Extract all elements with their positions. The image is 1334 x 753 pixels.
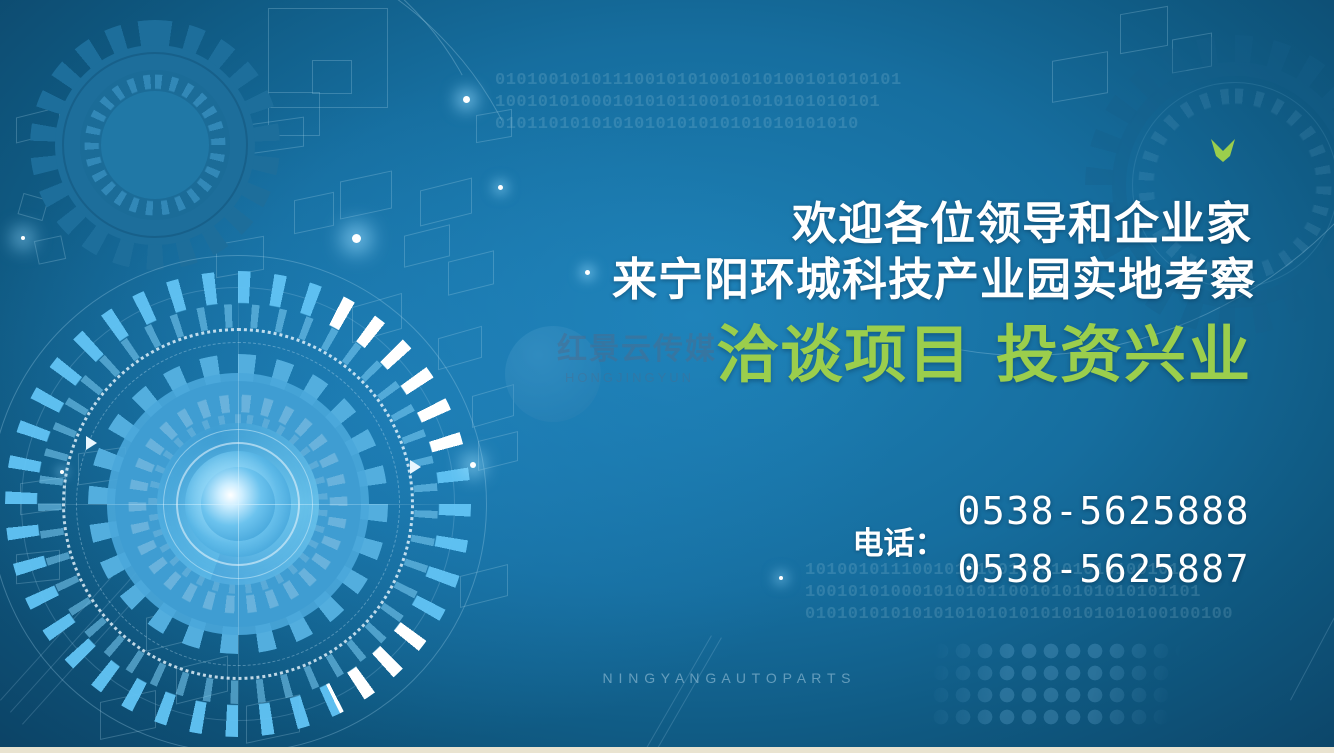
decor-rect [16, 107, 60, 144]
phone-number[interactable]: 0538-5625888 [957, 482, 1250, 540]
binary-line: 0101010101010101010101010101010100100100 [805, 604, 1233, 626]
decor-rect [404, 224, 450, 267]
phone-block: 电话： 0538-5625888 0538-5625887 [852, 482, 1250, 598]
decor-rect [460, 564, 508, 608]
decor-rect [216, 236, 264, 278]
binary-code-top: 01010010101110010101001010100101010101 1… [495, 70, 902, 136]
decor-rect [246, 694, 300, 743]
decor-rect [20, 477, 66, 515]
decor-streak [646, 635, 712, 748]
glow-dot [352, 234, 361, 243]
binary-line: 100101010001010101100101010101010101 [495, 92, 902, 114]
decor-rect [448, 250, 494, 295]
glow-dot [779, 576, 783, 580]
glow-dot [470, 462, 476, 468]
headline-line-2: 来宁阳环城科技产业园实地考察 [612, 252, 1252, 308]
glow-dot [60, 470, 64, 474]
binary-line: 01010010101110010101001010100101010101 [495, 70, 902, 92]
glow-dot [585, 270, 590, 275]
decor-rect [34, 235, 66, 264]
decor-rect [268, 8, 388, 108]
decor-rect [146, 606, 192, 651]
glow-dot [463, 96, 470, 103]
decor-rect [1172, 32, 1212, 73]
headline-block: 欢迎各位领导和企业家 来宁阳环城科技产业园实地考察 洽谈项目 投资兴业 [612, 196, 1252, 390]
decor-streak [22, 583, 150, 725]
decor-rect [438, 326, 482, 371]
decor-streak [656, 637, 722, 750]
phone-number[interactable]: 0538-5625887 [957, 540, 1250, 598]
marker-triangle-icon [410, 460, 421, 474]
chevron-down-icon [1209, 136, 1237, 162]
glow-dot [498, 185, 503, 190]
decor-rect [16, 550, 60, 585]
slogan-text: 洽谈项目 投资兴业 [612, 320, 1252, 390]
decor-rect [294, 192, 334, 235]
phone-label: 电话： [852, 518, 945, 563]
slide-canvas: 01010010101110010101001010100101010101 1… [0, 0, 1334, 753]
decor-rect [78, 447, 126, 486]
decor-rect [352, 293, 402, 343]
gear-decoration-top-left [30, 20, 280, 270]
marker-triangle-icon [86, 436, 97, 450]
decor-rect [476, 109, 512, 143]
brand-footer-text: N I N G Y A N G A U T O P A R T S [0, 670, 1334, 686]
phone-number-list: 0538-5625888 0538-5625887 [957, 482, 1250, 598]
headline-line-1: 欢迎各位领导和企业家 [612, 196, 1252, 252]
glow-dot [21, 236, 25, 240]
decor-rect [1052, 51, 1108, 103]
decor-rect [228, 117, 304, 158]
decor-arc [0, 0, 622, 628]
decor-rect [312, 60, 352, 94]
decor-rect [17, 193, 48, 221]
decor-rect [340, 170, 392, 219]
decor-rect [420, 178, 472, 227]
decor-rect [100, 690, 156, 740]
decor-rect [268, 92, 320, 136]
decor-arc [0, 0, 571, 552]
decor-streak [10, 571, 138, 713]
bottom-accent-strip [0, 747, 1334, 753]
binary-line: 0101101010101010101010101010101010 [495, 114, 902, 136]
decor-rect [1120, 6, 1168, 54]
